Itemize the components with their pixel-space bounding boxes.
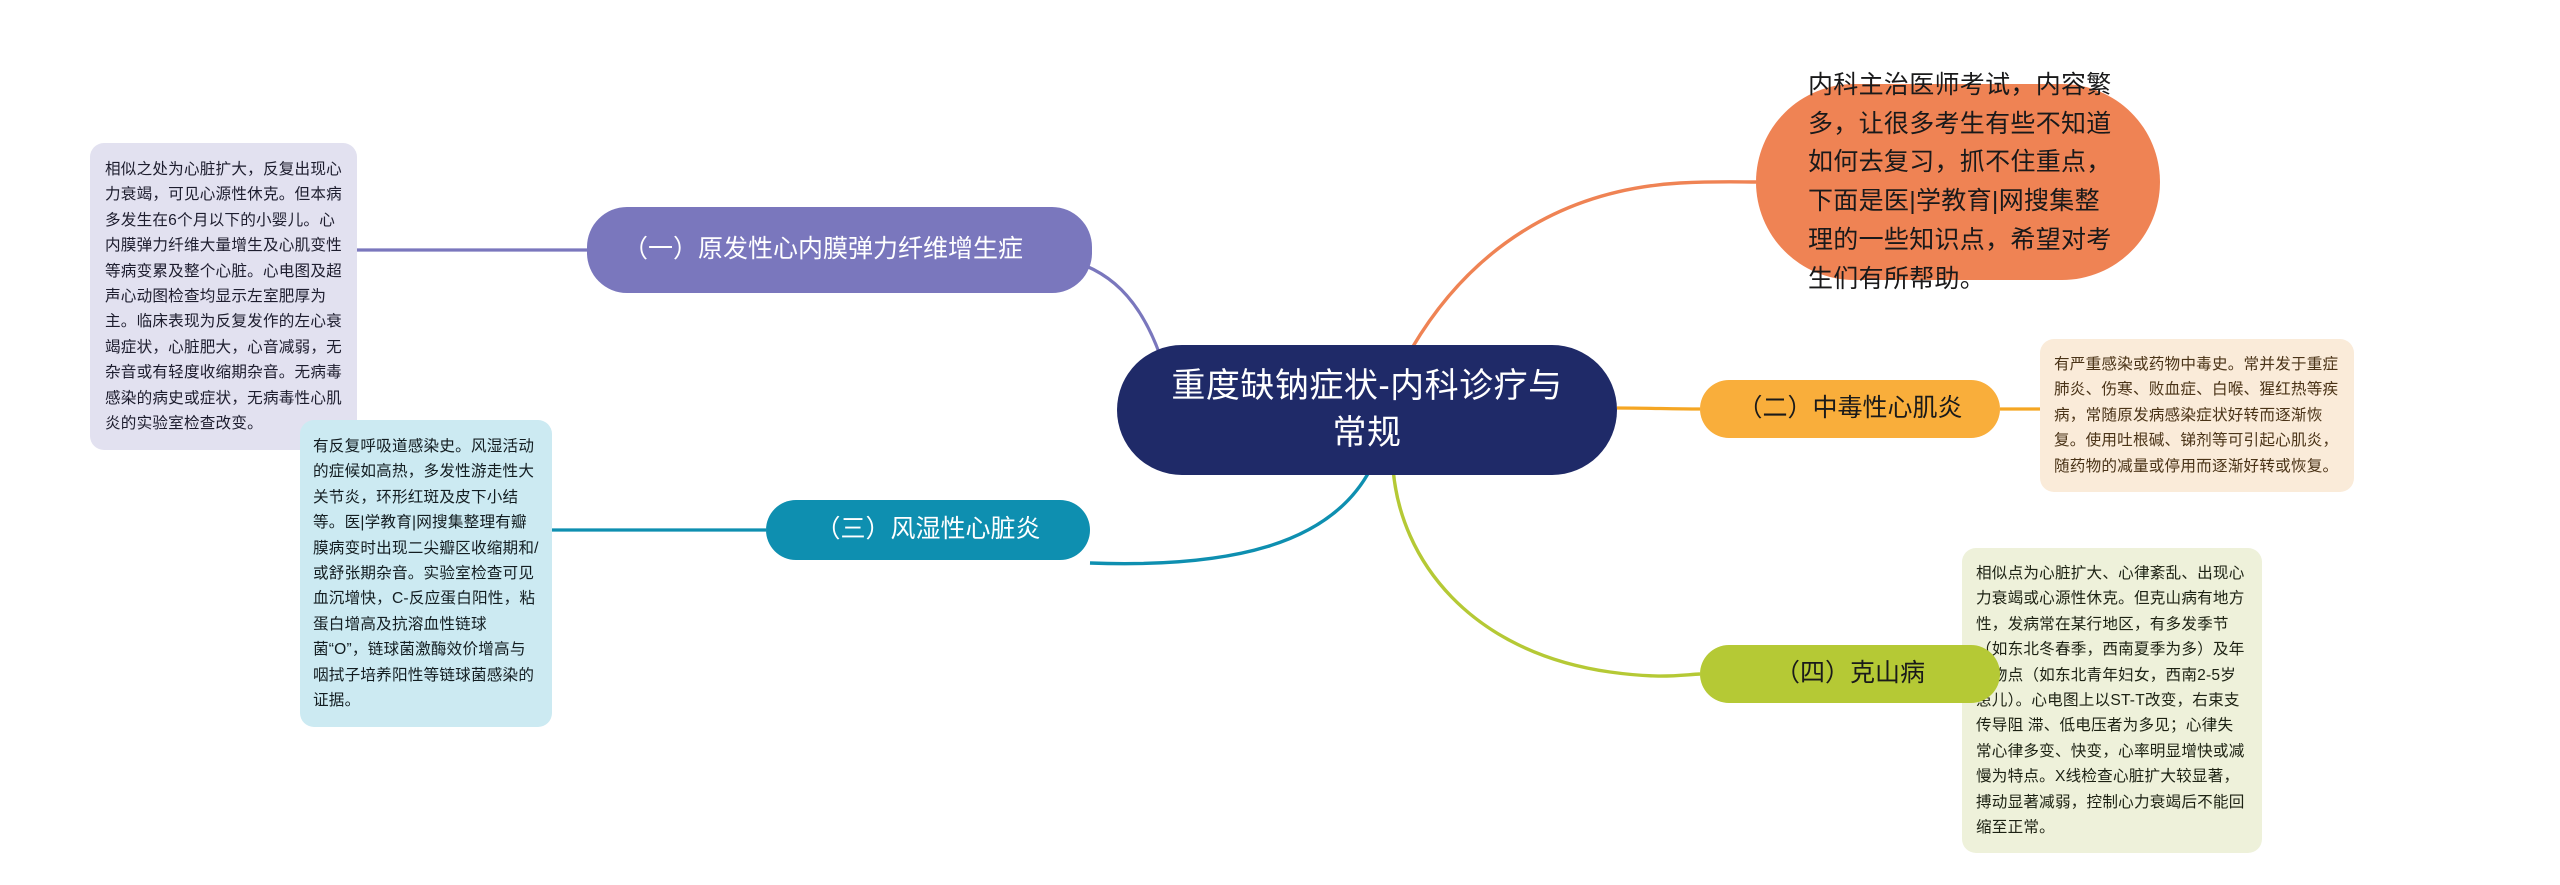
detail-card-toxic-myocarditis[interactable]: 有严重感染或药物中毒史。常并发于重症肺炎、伤寒、败血症、白喉、猩红热等疾病，常随… xyxy=(2040,339,2354,492)
detail-card-text: 相似之处为心脏扩大，反复出现心力衰竭，可见心源性休克。但本病多发生在6个月以下的… xyxy=(105,157,343,436)
root-node-label: 重度缺钠症状-内科诊疗与常规 xyxy=(1157,363,1577,457)
intro-card-text: 内科主治医师考试，内容繁多，让很多考生有些不知道如何去复习，抓不住重点，下面是医… xyxy=(1808,66,2116,299)
branch-node-3-rheumatic-carditis[interactable]: （三）风湿性心脏炎 xyxy=(766,500,1090,560)
detail-card-rheumatic-carditis[interactable]: 有反复呼吸道感染史。风湿活动的症候如高热，多发性游走性大关节炎，环形红斑及皮下小… xyxy=(300,420,552,727)
detail-card-text: 有反复呼吸道感染史。风湿活动的症候如高热，多发性游走性大关节炎，环形红斑及皮下小… xyxy=(313,434,539,713)
branch-node-4-keshan-disease[interactable]: （四）克山病 xyxy=(1700,645,2000,703)
detail-card-keshan-disease[interactable]: 相似点为心脏扩大、心律紊乱、出现心力衰竭或心源性休克。但克山病有地方性，发病常在… xyxy=(1962,548,2262,853)
branch-node-label: （四）克山病 xyxy=(1775,656,1925,692)
detail-card-text: 有严重感染或药物中毒史。常并发于重症肺炎、伤寒、败血症、白喉、猩红热等疾病，常随… xyxy=(2054,352,2340,479)
detail-card-text: 相似点为心脏扩大、心律紊乱、出现心力衰竭或心源性休克。但克山病有地方性，发病常在… xyxy=(1976,561,2248,840)
branch-node-1-endocardial-fibroelastosis[interactable]: （一）原发性心内膜弹力纤维增生症 xyxy=(587,207,1092,293)
branch-node-label: （一）原发性心内膜弹力纤维增生症 xyxy=(613,232,1023,268)
branch-node-2-toxic-myocarditis[interactable]: （二）中毒性心肌炎 xyxy=(1700,380,2000,438)
connector-root-to-branch-4 xyxy=(1393,468,1700,676)
root-node[interactable]: 重度缺钠症状-内科诊疗与常规 xyxy=(1117,345,1617,475)
connector-root-to-branch-2 xyxy=(1617,408,1700,409)
connector-root-to-intro xyxy=(1412,182,1756,348)
connector-root-to-branch-3 xyxy=(1090,470,1370,564)
branch-node-label: （三）风湿性心脏炎 xyxy=(815,512,1040,548)
branch-node-label: （二）中毒性心肌炎 xyxy=(1737,391,1962,427)
intro-card[interactable]: 内科主治医师考试，内容繁多，让很多考生有些不知道如何去复习，抓不住重点，下面是医… xyxy=(1756,84,2160,280)
mindmap-canvas: 相似之处为心脏扩大，反复出现心力衰竭，可见心源性休克。但本病多发生在6个月以下的… xyxy=(0,0,2560,885)
detail-card-endocardial-fibroelastosis[interactable]: 相似之处为心脏扩大，反复出现心力衰竭，可见心源性休克。但本病多发生在6个月以下的… xyxy=(90,143,357,450)
